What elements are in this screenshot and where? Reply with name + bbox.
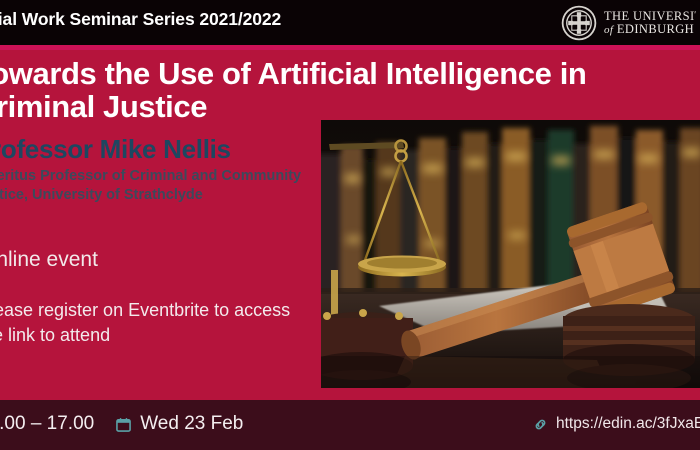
- main-content-panel: Towards the Use of Artificial Intelligen…: [0, 50, 700, 400]
- link-icon: [533, 417, 548, 432]
- talk-title: Towards the Use of Artificial Intelligen…: [0, 58, 700, 124]
- registration-instructions: Please register on Eventbrite to access …: [0, 298, 308, 348]
- university-wordmark: THE UNIVERSITY of EDINBURGH: [604, 10, 696, 36]
- svg-text:· · · · · ·: · · · · · ·: [575, 37, 582, 39]
- edinburgh-crest-icon: · · · · · · · · · · · ·: [561, 5, 597, 41]
- speaker-name: Professor Mike Nellis: [0, 134, 231, 165]
- event-url[interactable]: https://edin.ac/3fJxaE: [556, 415, 700, 433]
- event-mode-label: Online event: [0, 248, 98, 272]
- event-photo: [321, 120, 700, 388]
- footer-datetime-group: 16.00 – 17.00 Wed 23 Feb: [0, 413, 243, 435]
- university-of-edinburgh-logo: · · · · · · · · · · · · THE UNIVERSITY o…: [561, 3, 696, 43]
- event-url-group[interactable]: https://edin.ac/3fJxaE: [533, 415, 700, 433]
- event-date: Wed 23 Feb: [140, 413, 243, 435]
- wordmark-of: of: [604, 24, 613, 36]
- event-time: 16.00 – 17.00: [0, 413, 94, 435]
- footer-bar: 16.00 – 17.00 Wed 23 Feb https://edin.ac…: [0, 400, 700, 450]
- header-bar: Social Work Seminar Series 2021/2022 · ·…: [0, 0, 700, 45]
- calendar-icon: [116, 417, 131, 432]
- justice-scene-illustration: [321, 120, 700, 388]
- seminar-series-title: Social Work Seminar Series 2021/2022: [0, 9, 281, 30]
- svg-text:· · · · · ·: · · · · · ·: [575, 9, 582, 11]
- wordmark-line-2: EDINBURGH: [617, 22, 694, 36]
- speaker-affiliation: Emeritus Professor of Criminal and Commu…: [0, 167, 346, 205]
